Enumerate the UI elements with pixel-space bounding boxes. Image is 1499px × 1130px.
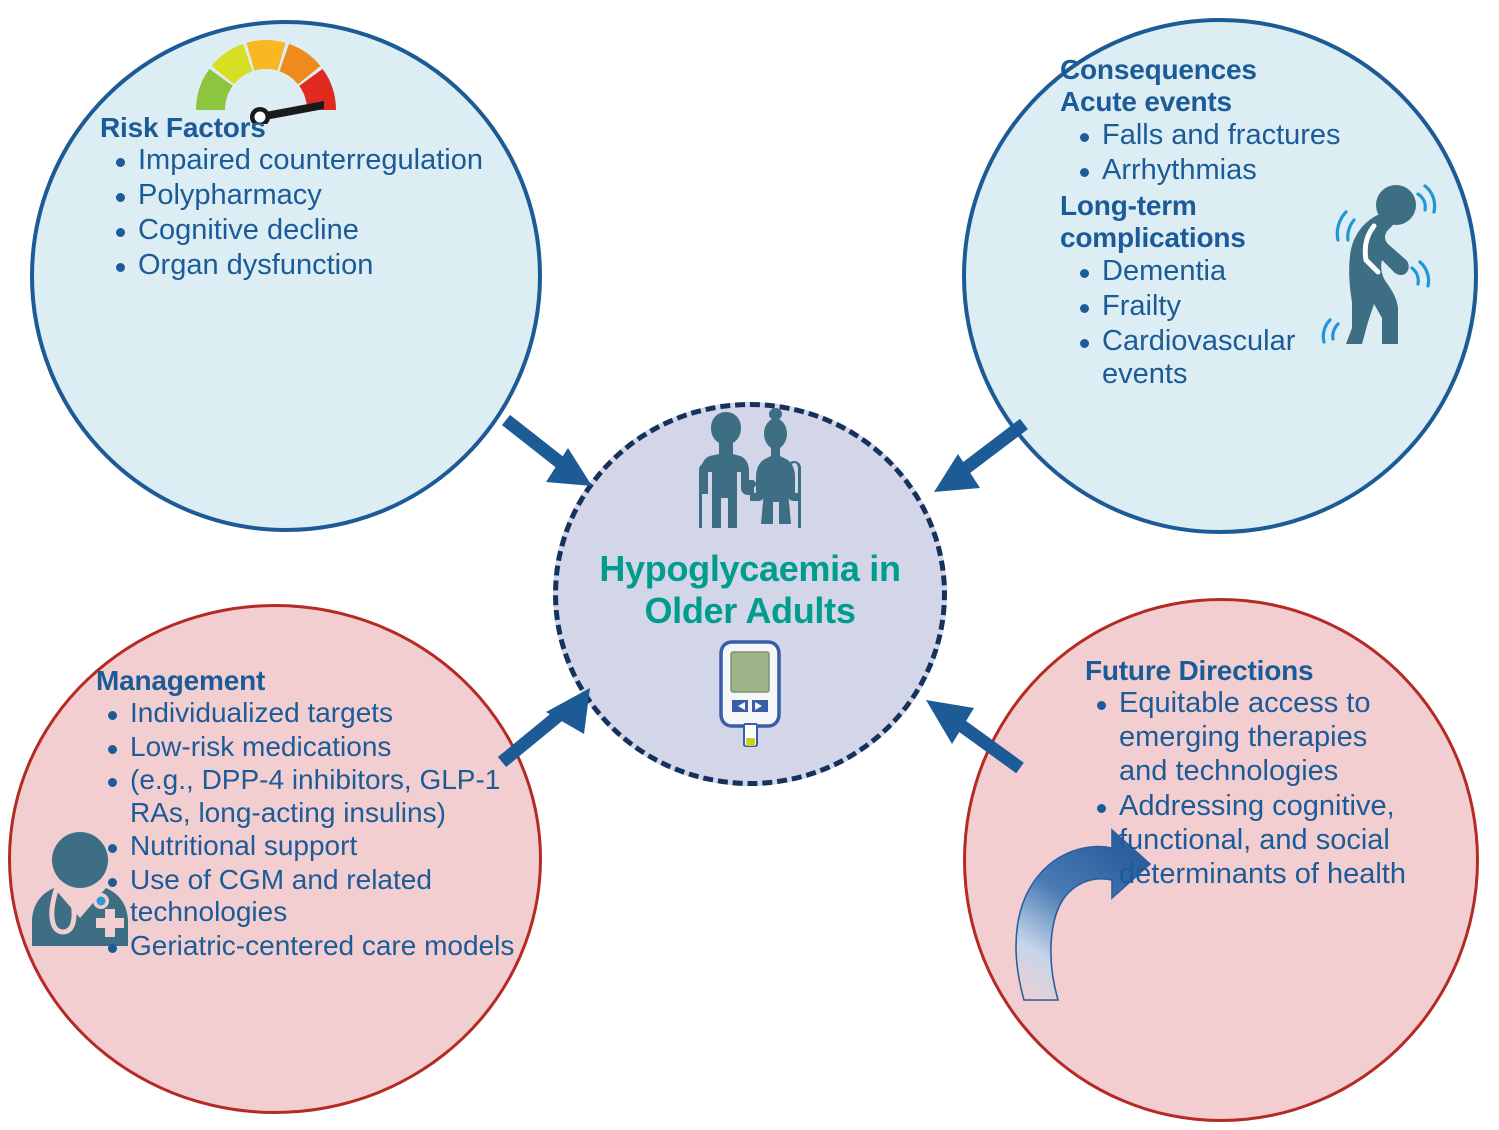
list-item: Organ dysfunction	[138, 249, 500, 283]
list-item: Individualized targets	[130, 697, 536, 729]
consequences-subheading-acute: Acute events	[1060, 86, 1370, 118]
list-item: (e.g., DPP-4 inhibitors, GLP-1 RAs, long…	[130, 764, 536, 829]
list-item: Geriatric-centered care models	[130, 930, 536, 962]
arrow-future-to-center	[912, 688, 1028, 780]
elderly-couple-icon	[688, 402, 812, 534]
speedometer-gauge-icon	[182, 24, 350, 124]
management-heading: Management	[96, 665, 536, 697]
consequences-text-block: Consequences Acute events Falls and frac…	[1060, 54, 1370, 393]
consequences-acute-bullet-list: Falls and fractures Arrhythmias	[1060, 119, 1370, 188]
arrow-consequences-to-center	[918, 418, 1030, 510]
list-item: Dementia	[1102, 255, 1370, 289]
list-item: Polypharmacy	[138, 179, 500, 213]
consequences-longterm-bullet-list: Dementia Frailty Cardiovascular events	[1060, 255, 1370, 393]
list-item: Impaired counterregulation	[138, 144, 500, 178]
list-item: Falls and fractures	[1102, 119, 1370, 153]
risk-factors-heading: Risk Factors	[100, 112, 500, 144]
future-directions-bullet-list: Equitable access to emerging therapies a…	[1085, 687, 1415, 892]
list-item: Nutritional support	[130, 830, 536, 862]
list-item: Use of CGM and related technologies	[130, 864, 536, 929]
future-directions-heading: Future Directions	[1085, 655, 1415, 687]
list-item: Equitable access to emerging therapies a…	[1119, 687, 1415, 789]
consequences-subheading-longterm: Long-term complications	[1060, 190, 1370, 255]
consequences-heading: Consequences	[1060, 54, 1370, 86]
page-title: Hypoglycaemia in Older Adults	[560, 548, 940, 633]
list-item: Arrhythmias	[1102, 154, 1370, 188]
diagram-canvas: Risk Factors Impaired counterregulation …	[0, 0, 1499, 1130]
risk-factors-bullet-list: Impaired counterregulation Polypharmacy …	[100, 144, 500, 283]
list-item: Cognitive decline	[138, 214, 500, 248]
list-item: Cardiovascular events	[1102, 325, 1370, 393]
arrow-management-to-center	[492, 678, 610, 770]
center-title-line-2: Older Adults	[560, 590, 940, 632]
management-bullet-list: Individualized targets Low-risk medicati…	[96, 697, 536, 962]
list-item: Frailty	[1102, 290, 1370, 324]
management-text-block: Management Individualized targets Low-ri…	[96, 665, 536, 963]
risk-factors-text-block: Risk Factors Impaired counterregulation …	[100, 112, 500, 284]
glucometer-icon	[712, 638, 788, 750]
list-item: Low-risk medications	[130, 731, 536, 763]
future-directions-text-block: Future Directions Equitable access to em…	[1085, 655, 1415, 893]
list-item: Addressing cognitive, functional, and so…	[1119, 790, 1415, 892]
center-title-line-1: Hypoglycaemia in	[560, 548, 940, 590]
arrow-risk-to-center	[500, 412, 610, 502]
